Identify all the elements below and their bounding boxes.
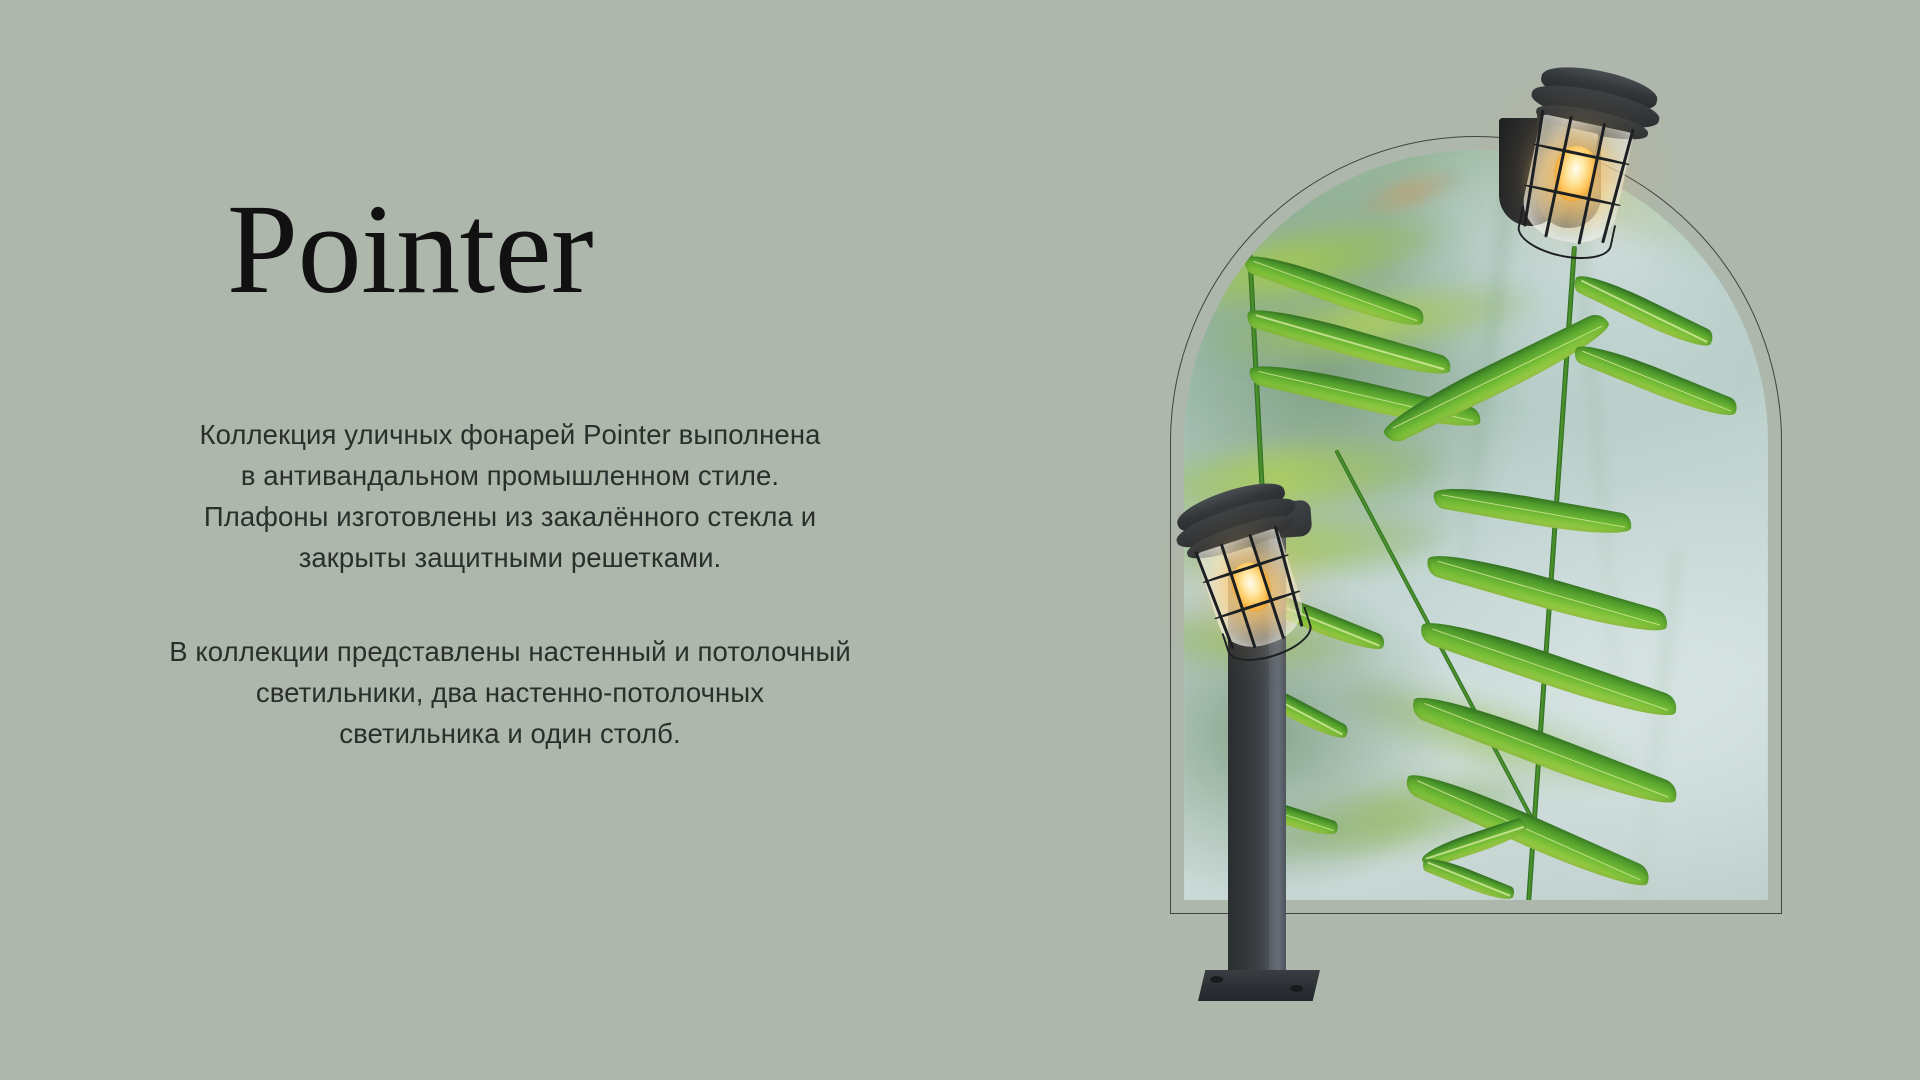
paragraph-1-line-4: закрыты защитными решетками. [100,537,920,578]
paragraph-2: В коллекции представлены настенный и пот… [100,631,920,754]
slide-canvas: Pointer Коллекция уличных фонарей Pointe… [0,0,1920,1080]
wall-lamp-head [1484,44,1680,263]
screw-icon [1272,961,1277,966]
paragraph-1: Коллекция уличных фонарей Pointer выполн… [100,414,920,578]
paragraph-2-line-2: светильники, два настенно-потолочных [100,672,920,713]
paragraph-2-line-3: светильника и один столб. [100,713,920,754]
wall-lamp [1485,52,1705,252]
bolt-hole-icon [1210,976,1223,983]
bolt-hole-icon [1290,985,1303,992]
page-title: Pointer [0,185,1010,313]
paragraph-2-line-1: В коллекции представлены настенный и пот… [100,631,920,672]
bollard-lamp [1146,425,1376,1005]
paragraph-1-line-2: в антивандальном промышленном стиле. [100,455,920,496]
paragraph-1-line-1: Коллекция уличных фонарей Pointer выполн… [100,414,920,455]
paragraph-1-line-3: Плафоны изготовлены из закалённого стекл… [100,496,920,537]
bollard-base-plate [1198,970,1320,1001]
text-column: Pointer Коллекция уличных фонарей Pointe… [0,0,1010,1080]
bollard-lamp-head [1138,427,1332,630]
description-block: Коллекция уличных фонарей Pointer выполн… [100,414,920,754]
screw-icon [1272,943,1277,948]
